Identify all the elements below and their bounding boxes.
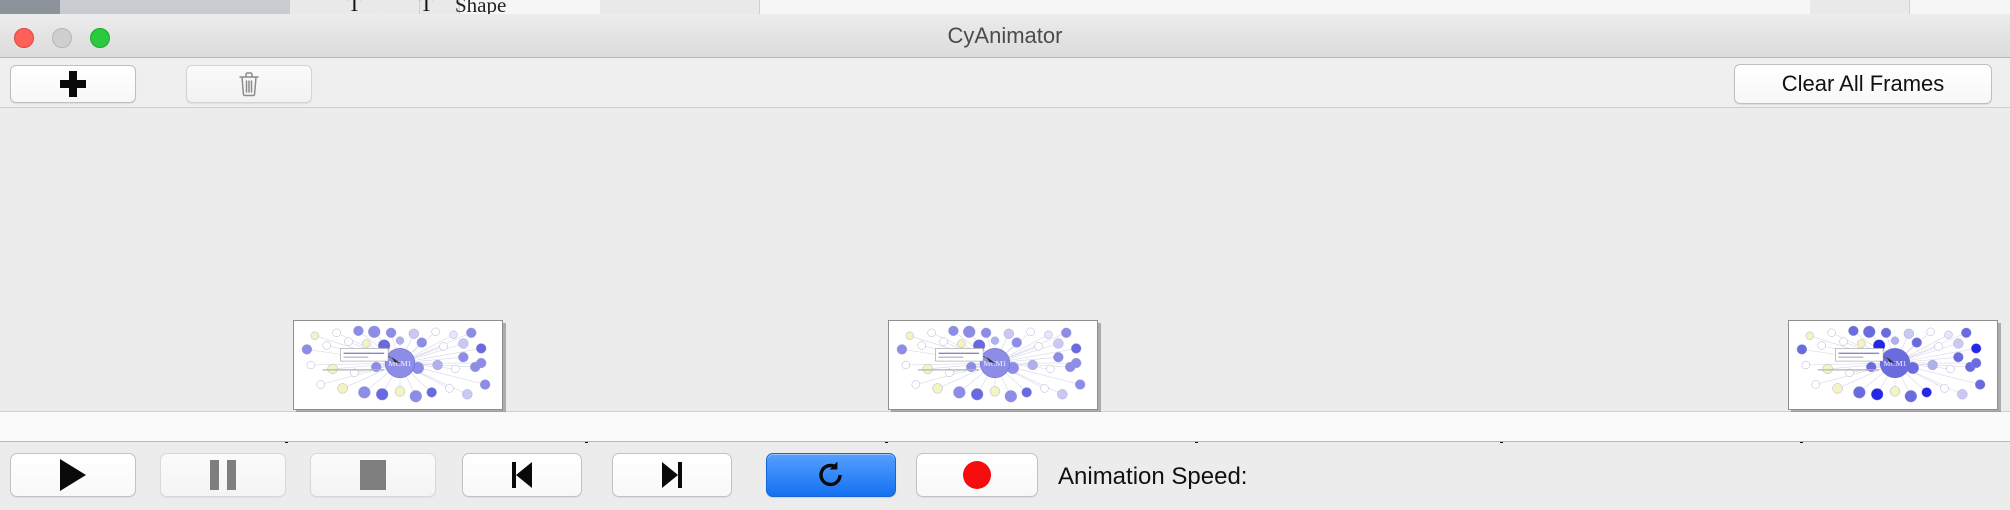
svg-text:MCM1: MCM1 xyxy=(983,359,1006,368)
clear-all-frames-label: Clear All Frames xyxy=(1782,71,1945,97)
frame-toolbar: Clear All Frames xyxy=(0,58,2010,108)
network-graph-preview: MCM1 xyxy=(297,324,499,406)
animation-speed-label: Animation Speed: xyxy=(1058,463,1247,491)
stop-icon xyxy=(360,460,386,490)
svg-text:MCM1: MCM1 xyxy=(388,359,411,368)
playback-control-bar: Animation Speed: xyxy=(0,443,2010,510)
timeline-panel[interactable]: MCM1 MCM1 MCM1 2131415161718 xyxy=(0,108,2010,412)
pause-icon xyxy=(210,460,236,490)
skip-forward-icon xyxy=(657,459,687,491)
play-button[interactable] xyxy=(10,453,136,497)
timeline-scrollbar-track[interactable] xyxy=(0,412,2010,442)
pause-button[interactable] xyxy=(160,453,286,497)
cyanimator-window: T T Shape CyAnimator Clear All Frames xyxy=(0,0,2010,510)
record-icon xyxy=(963,461,991,489)
delete-frame-button[interactable] xyxy=(186,65,312,103)
plus-icon xyxy=(60,71,86,97)
add-frame-button[interactable] xyxy=(10,65,136,103)
network-graph-preview: MCM1 xyxy=(892,324,1094,406)
stop-button[interactable] xyxy=(310,453,436,497)
previous-frame-button[interactable] xyxy=(462,453,582,497)
background-gray-block xyxy=(60,0,290,14)
trash-icon xyxy=(238,71,260,97)
loop-icon xyxy=(815,459,847,491)
record-button[interactable] xyxy=(916,453,1038,497)
timeline-frame-thumbnail[interactable]: MCM1 xyxy=(1788,320,1998,410)
skip-back-icon xyxy=(507,459,537,491)
title-bar: CyAnimator xyxy=(0,14,2010,58)
background-window-strip: T T Shape xyxy=(0,0,2010,14)
svg-text:MCM1: MCM1 xyxy=(1883,359,1906,368)
timeline-frame-thumbnail[interactable]: MCM1 xyxy=(888,320,1098,410)
background-app-text: Shape xyxy=(455,0,506,14)
play-icon xyxy=(60,459,86,491)
background-dark-block xyxy=(0,0,60,14)
loop-button[interactable] xyxy=(766,453,896,497)
timeline-frame-thumbnail[interactable]: MCM1 xyxy=(293,320,503,410)
clear-all-frames-button[interactable]: Clear All Frames xyxy=(1734,64,1992,104)
next-frame-button[interactable] xyxy=(612,453,732,497)
window-title: CyAnimator xyxy=(0,14,2010,58)
network-graph-preview: MCM1 xyxy=(1792,324,1994,406)
